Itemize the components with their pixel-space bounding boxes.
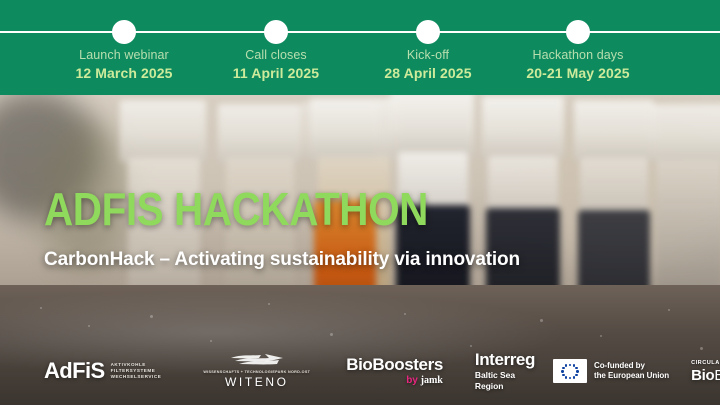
timeline-milestone-dot[interactable] bbox=[264, 20, 288, 44]
timeline-milestone-dot[interactable] bbox=[112, 20, 136, 44]
poster-canvas: Launch webinar 12 March 2025 Call closes… bbox=[0, 0, 720, 405]
timeline-item-hackathon-days: Hackathon days 20-21 May 2025 bbox=[526, 48, 629, 82]
vial-cap bbox=[300, 102, 378, 157]
byline-by: by bbox=[406, 375, 418, 386]
vial-cap bbox=[120, 100, 206, 162]
adfis-wordmark: AdFiS bbox=[44, 360, 105, 382]
logo-interreg: Interreg Baltic Sea Region bbox=[475, 351, 535, 392]
interreg-wordmark: Interreg bbox=[475, 351, 535, 369]
circular-wordmark-rest: Boosters bbox=[714, 367, 720, 384]
timeline-item-launch-webinar: Launch webinar 12 March 2025 bbox=[75, 48, 172, 82]
timeline-date: 20-21 May 2025 bbox=[526, 64, 629, 82]
eu-cofunded-line2: the European Union bbox=[594, 371, 669, 382]
logo-circular-economy-bioboosters: Circular Economy BioBoosters bbox=[691, 359, 720, 384]
adfis-tagline-line3: Wechselservice bbox=[111, 374, 162, 380]
timeline-item-call-closes: Call closes 11 April 2025 bbox=[233, 48, 319, 82]
circular-economy-tagline: Circular Economy bbox=[691, 359, 720, 367]
timeline-header: Launch webinar 12 March 2025 Call closes… bbox=[0, 0, 720, 95]
timeline-label: Launch webinar bbox=[75, 48, 172, 63]
eu-cofunded-text: Co-funded by the European Union bbox=[594, 361, 669, 382]
vial-cap bbox=[652, 104, 720, 162]
witeno-wordmark: WITENO bbox=[225, 375, 289, 389]
vial-cap bbox=[574, 100, 654, 160]
timeline-milestone-dot[interactable] bbox=[566, 20, 590, 44]
page-title: ADFIS HACKATHON bbox=[44, 185, 463, 233]
timeline-label: Hackathon days bbox=[526, 48, 629, 63]
timeline-item-kick-off: Kick-off 28 April 2025 bbox=[384, 48, 471, 82]
logo-eu-cofunded: Co-funded by the European Union bbox=[553, 359, 669, 383]
bioboosters-byline: by jamk bbox=[406, 375, 443, 386]
vial-neck bbox=[580, 158, 648, 214]
logo-witeno: WISSENSCHAFTS + TECHNOLOGIEPARK NORD-OST… bbox=[203, 353, 310, 389]
logo-adfis: AdFiS Aktivkohle Filtersysteme Wechselse… bbox=[44, 360, 161, 382]
page-subtitle: CarbonHack – Activating sustainability v… bbox=[44, 249, 520, 271]
hero-block: ADFIS HACKATHON CarbonHack – Activating … bbox=[44, 185, 520, 271]
interreg-region: Baltic Sea Region bbox=[475, 370, 535, 392]
timeline-date: 11 April 2025 bbox=[233, 64, 319, 82]
timeline-date: 12 March 2025 bbox=[75, 64, 172, 82]
circular-bioboosters-wordmark: BioBoosters bbox=[691, 367, 720, 384]
timeline-label: Kick-off bbox=[384, 48, 471, 63]
witeno-wave-icon bbox=[229, 353, 285, 368]
circular-wordmark-bold: Bio bbox=[691, 367, 714, 384]
vial-cap bbox=[390, 92, 474, 156]
timeline-date: 28 April 2025 bbox=[384, 64, 471, 82]
timeline-axis bbox=[0, 31, 720, 33]
adfis-tagline: Aktivkohle Filtersysteme Wechselservice bbox=[111, 362, 162, 381]
byline-jamk: jamk bbox=[421, 375, 443, 386]
sponsor-logo-bar: AdFiS Aktivkohle Filtersysteme Wechselse… bbox=[0, 345, 720, 397]
timeline-label: Call closes bbox=[233, 48, 319, 63]
eu-flag-icon bbox=[553, 359, 587, 383]
timeline-milestone-dot[interactable] bbox=[416, 20, 440, 44]
bioboosters-wordmark: BioBoosters bbox=[346, 356, 443, 374]
vial-cap bbox=[482, 96, 564, 158]
eu-cofunded-line1: Co-funded by bbox=[594, 361, 669, 372]
vial-cap bbox=[218, 104, 300, 162]
logo-bioboosters-jamk: BioBoosters by jamk bbox=[346, 356, 443, 386]
